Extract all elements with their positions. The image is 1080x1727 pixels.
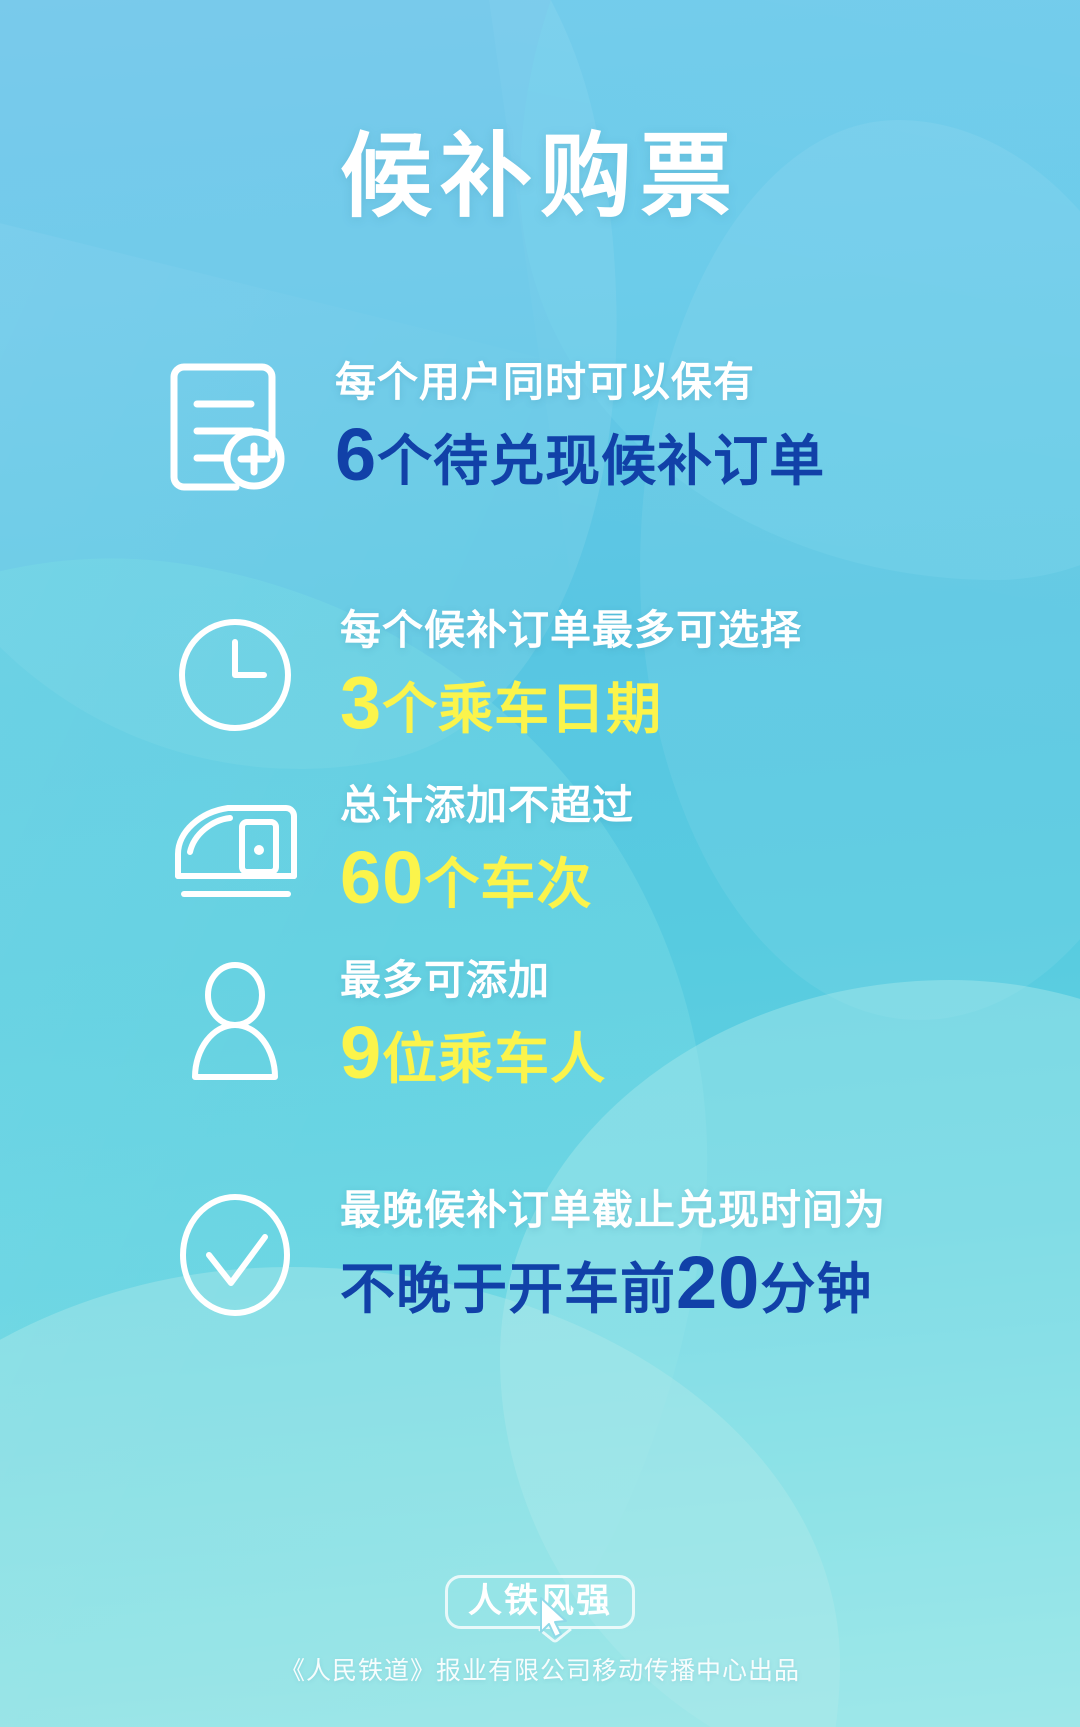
info-item-unit: 个乘车日期 [382, 678, 662, 740]
info-item-number: 9 [340, 1011, 382, 1094]
info-item-value: 9位乘车人 [340, 1016, 606, 1096]
info-item-unit: 分钟 [760, 1258, 872, 1320]
info-item-value: 6个待兑现候补订单 [335, 418, 825, 498]
info-item-number: 6 [335, 413, 377, 496]
clock-icon [160, 600, 310, 750]
info-item-text: 总计添加不超过 60个车次 [340, 780, 634, 921]
brand-logo: 人铁风强 [445, 1575, 635, 1629]
footer: 人铁风强 《人民铁道》报业有限公司移动传播中心出品 [0, 1575, 1080, 1687]
page-title: 候补购票 [0, 126, 1080, 229]
info-item-caption: 每个候补订单最多可选择 [340, 605, 802, 656]
document-plus-icon [150, 352, 300, 502]
info-item-number: 60 [340, 836, 424, 919]
info-item-text: 每个用户同时可以保有 6个待兑现候补订单 [335, 357, 825, 498]
info-item-number: 3 [340, 661, 382, 744]
info-item-travel-dates: 每个候补订单最多可选择 3个乘车日期 [160, 600, 802, 750]
poster-canvas: 候补购票 每个用户同时可以保有 6个待兑现候补订单 [0, 0, 1080, 1727]
info-item-text: 每个候补订单最多可选择 3个乘车日期 [340, 605, 802, 746]
cursor-arrow-icon [538, 1596, 572, 1640]
info-item-deadline: 最晚候补订单截止兑现时间为 不晚于开车前20分钟 [160, 1180, 886, 1330]
poster-content: 候补购票 每个用户同时可以保有 6个待兑现候补订单 [0, 0, 1080, 1727]
info-item-value: 60个车次 [340, 841, 634, 921]
info-item-caption: 总计添加不超过 [340, 780, 634, 831]
footer-credit: 《人民铁道》报业有限公司移动传播中心出品 [0, 1651, 1080, 1687]
info-item-caption: 最多可添加 [340, 955, 606, 1006]
info-item-train-count: 总计添加不超过 60个车次 [160, 775, 634, 925]
info-item-passengers: 最多可添加 9位乘车人 [160, 950, 606, 1100]
info-item-caption: 最晚候补订单截止兑现时间为 [340, 1185, 886, 1236]
info-item-unit: 个车次 [424, 853, 592, 915]
person-icon [160, 950, 310, 1100]
info-item-text: 最多可添加 9位乘车人 [340, 955, 606, 1096]
info-item-unit: 位乘车人 [382, 1028, 606, 1090]
check-circle-icon [160, 1180, 310, 1330]
info-item-text: 最晚候补订单截止兑现时间为 不晚于开车前20分钟 [340, 1185, 886, 1326]
info-item-number: 20 [676, 1241, 760, 1324]
info-item-caption: 每个用户同时可以保有 [335, 357, 825, 408]
train-icon [160, 775, 310, 925]
info-item-reserved-orders: 每个用户同时可以保有 6个待兑现候补订单 [150, 352, 825, 502]
info-item-unit: 个待兑现候补订单 [377, 430, 825, 492]
info-item-value: 不晚于开车前20分钟 [340, 1246, 886, 1326]
info-item-prefix: 不晚于开车前 [340, 1258, 676, 1320]
info-item-value: 3个乘车日期 [340, 666, 802, 746]
